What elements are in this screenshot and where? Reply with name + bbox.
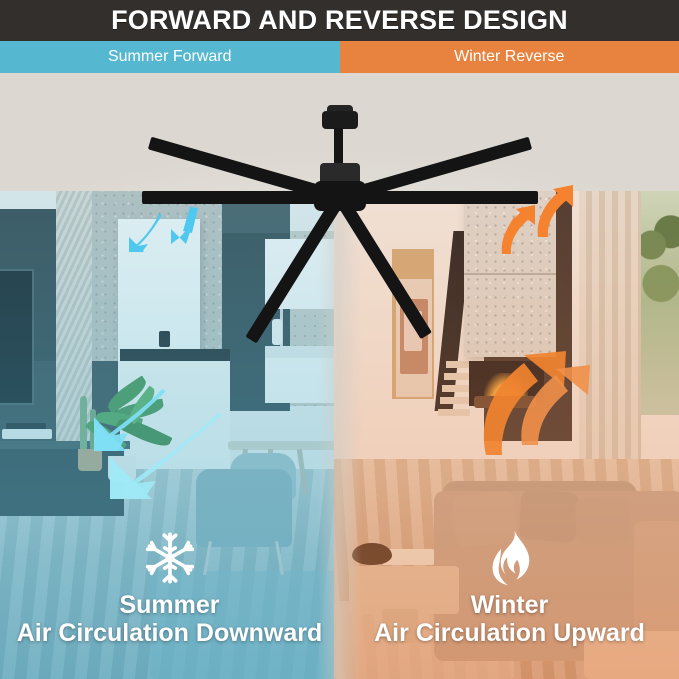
left-cactus-pot <box>78 449 102 471</box>
left-vase <box>272 319 282 345</box>
mode-label-summer-forward: Summer Forward <box>0 41 340 73</box>
left-sideboard <box>0 446 124 516</box>
winter-reverse-text: Winter Reverse <box>454 49 564 65</box>
fan-downrod <box>334 128 343 166</box>
caption-winter: Winter Air Circulation Upward <box>340 528 679 647</box>
right-panel-seam <box>464 273 556 275</box>
right-stair-step <box>440 397 472 404</box>
ceiling-fan <box>0 73 679 273</box>
fan-hub <box>314 181 366 211</box>
left-wall-tv <box>0 269 34 405</box>
snowflake-icon <box>0 528 339 588</box>
left-books-light <box>2 429 52 439</box>
page-title: FORWARD AND REVERSE DESIGN <box>111 7 568 34</box>
caption-winter-season: Winter <box>340 592 679 619</box>
caption-summer-season: Summer <box>0 592 339 619</box>
right-stair-step <box>438 409 470 416</box>
caption-winter-description: Air Circulation Upward <box>340 620 679 647</box>
caption-summer-description: Air Circulation Downward <box>0 620 339 647</box>
left-kettle <box>159 331 170 347</box>
fan-blade <box>142 191 342 204</box>
left-back-counter-body <box>265 358 345 403</box>
left-back-counter-top <box>265 346 345 358</box>
flame-icon <box>340 528 679 588</box>
product-infographic: FORWARD AND REVERSE DESIGN Summer Forwar… <box>0 0 679 679</box>
fan-ceiling-mount <box>322 111 358 129</box>
summer-forward-text: Summer Forward <box>108 49 232 65</box>
mode-label-winter-reverse: Winter Reverse <box>340 41 679 73</box>
header-title-bar: FORWARD AND REVERSE DESIGN <box>0 0 679 41</box>
left-plant-pot <box>108 456 136 481</box>
mode-sub-bar: Summer Forward Winter Reverse <box>0 41 679 73</box>
right-fire-logs <box>474 396 536 408</box>
caption-summer: Summer Air Circulation Downward <box>0 528 339 647</box>
